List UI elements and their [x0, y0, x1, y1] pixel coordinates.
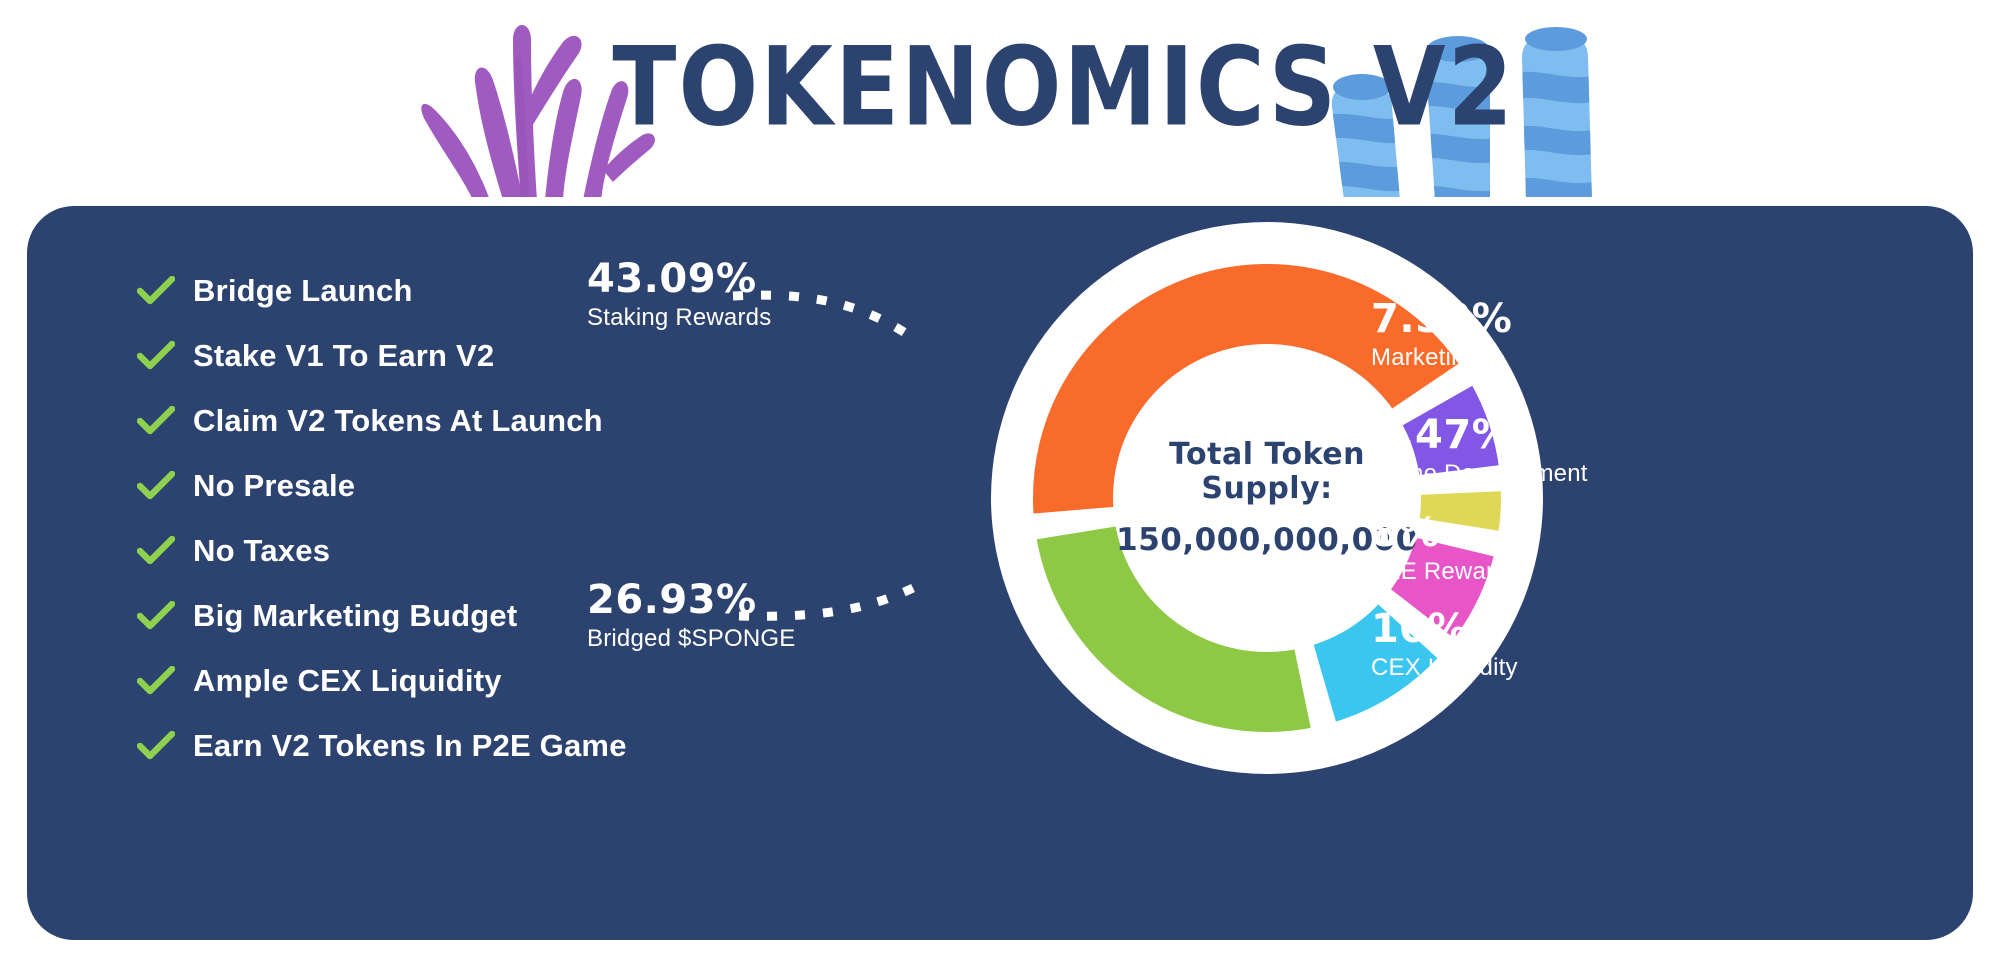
callout-percent: 10%: [1371, 608, 1518, 650]
check-icon: [137, 731, 193, 761]
callout-name: Game Development: [1371, 459, 1588, 489]
tokenomics-card: Bridge Launch Stake V1 To Earn V2 Claim …: [18, 197, 1982, 949]
callout-name: P2E Rewards: [1371, 557, 1520, 587]
callout-percent: 7.50%: [1371, 298, 1512, 340]
list-item-label: Ample CEX Liquidity: [193, 663, 502, 699]
callout-name: Marketing: [1371, 343, 1512, 373]
callout-percent: 8%: [1371, 512, 1520, 554]
check-icon: [137, 666, 193, 696]
list-item-label: Earn V2 Tokens In P2E Game: [193, 728, 627, 764]
page-title: TOKENOMICS V2: [612, 24, 1387, 150]
list-item-label: Big Marketing Budget: [193, 598, 517, 634]
list-item-label: Stake V1 To Earn V2: [193, 338, 494, 374]
callout-game-development: 4.47% Game Development: [1371, 414, 1588, 489]
callout-percent: 4.47%: [1371, 414, 1588, 456]
check-icon: [137, 471, 193, 501]
list-item-label: No Taxes: [193, 533, 330, 569]
check-icon: [137, 406, 193, 436]
feature-checklist: Bridge Launch Stake V1 To Earn V2 Claim …: [137, 259, 757, 779]
list-item: Claim V2 Tokens At Launch: [137, 389, 757, 453]
callout-marketing: 7.50% Marketing: [1371, 298, 1512, 373]
callout-cex-liquidity: 10% CEX Liquidity: [1371, 608, 1518, 683]
check-icon: [137, 536, 193, 566]
callout-percent: 43.09%: [587, 258, 771, 300]
list-item: Stake V1 To Earn V2: [137, 324, 757, 388]
callout-name: Bridged $SPONGE: [587, 624, 795, 654]
check-icon: [137, 276, 193, 306]
callout-name: CEX Liquidity: [1371, 653, 1518, 683]
check-icon: [137, 341, 193, 371]
infographic-root: TOKENOMICS V2 Bridge Launch Stake V1 To …: [0, 0, 2000, 966]
list-item: Earn V2 Tokens In P2E Game: [137, 714, 757, 778]
callout-staking-rewards: 43.09% Staking Rewards: [587, 258, 771, 333]
callout-name: Staking Rewards: [587, 303, 771, 333]
callout-p2e-rewards: 8% P2E Rewards: [1371, 512, 1520, 587]
callout-percent: 26.93%: [587, 579, 795, 621]
list-item: No Presale: [137, 454, 757, 518]
list-item-label: Claim V2 Tokens At Launch: [193, 403, 603, 439]
callout-bridged-sponge: 26.93% Bridged $SPONGE: [587, 579, 795, 654]
list-item: Ample CEX Liquidity: [137, 649, 757, 713]
list-item-label: No Presale: [193, 468, 355, 504]
list-item: No Taxes: [137, 519, 757, 583]
list-item-label: Bridge Launch: [193, 273, 413, 309]
check-icon: [137, 601, 193, 631]
